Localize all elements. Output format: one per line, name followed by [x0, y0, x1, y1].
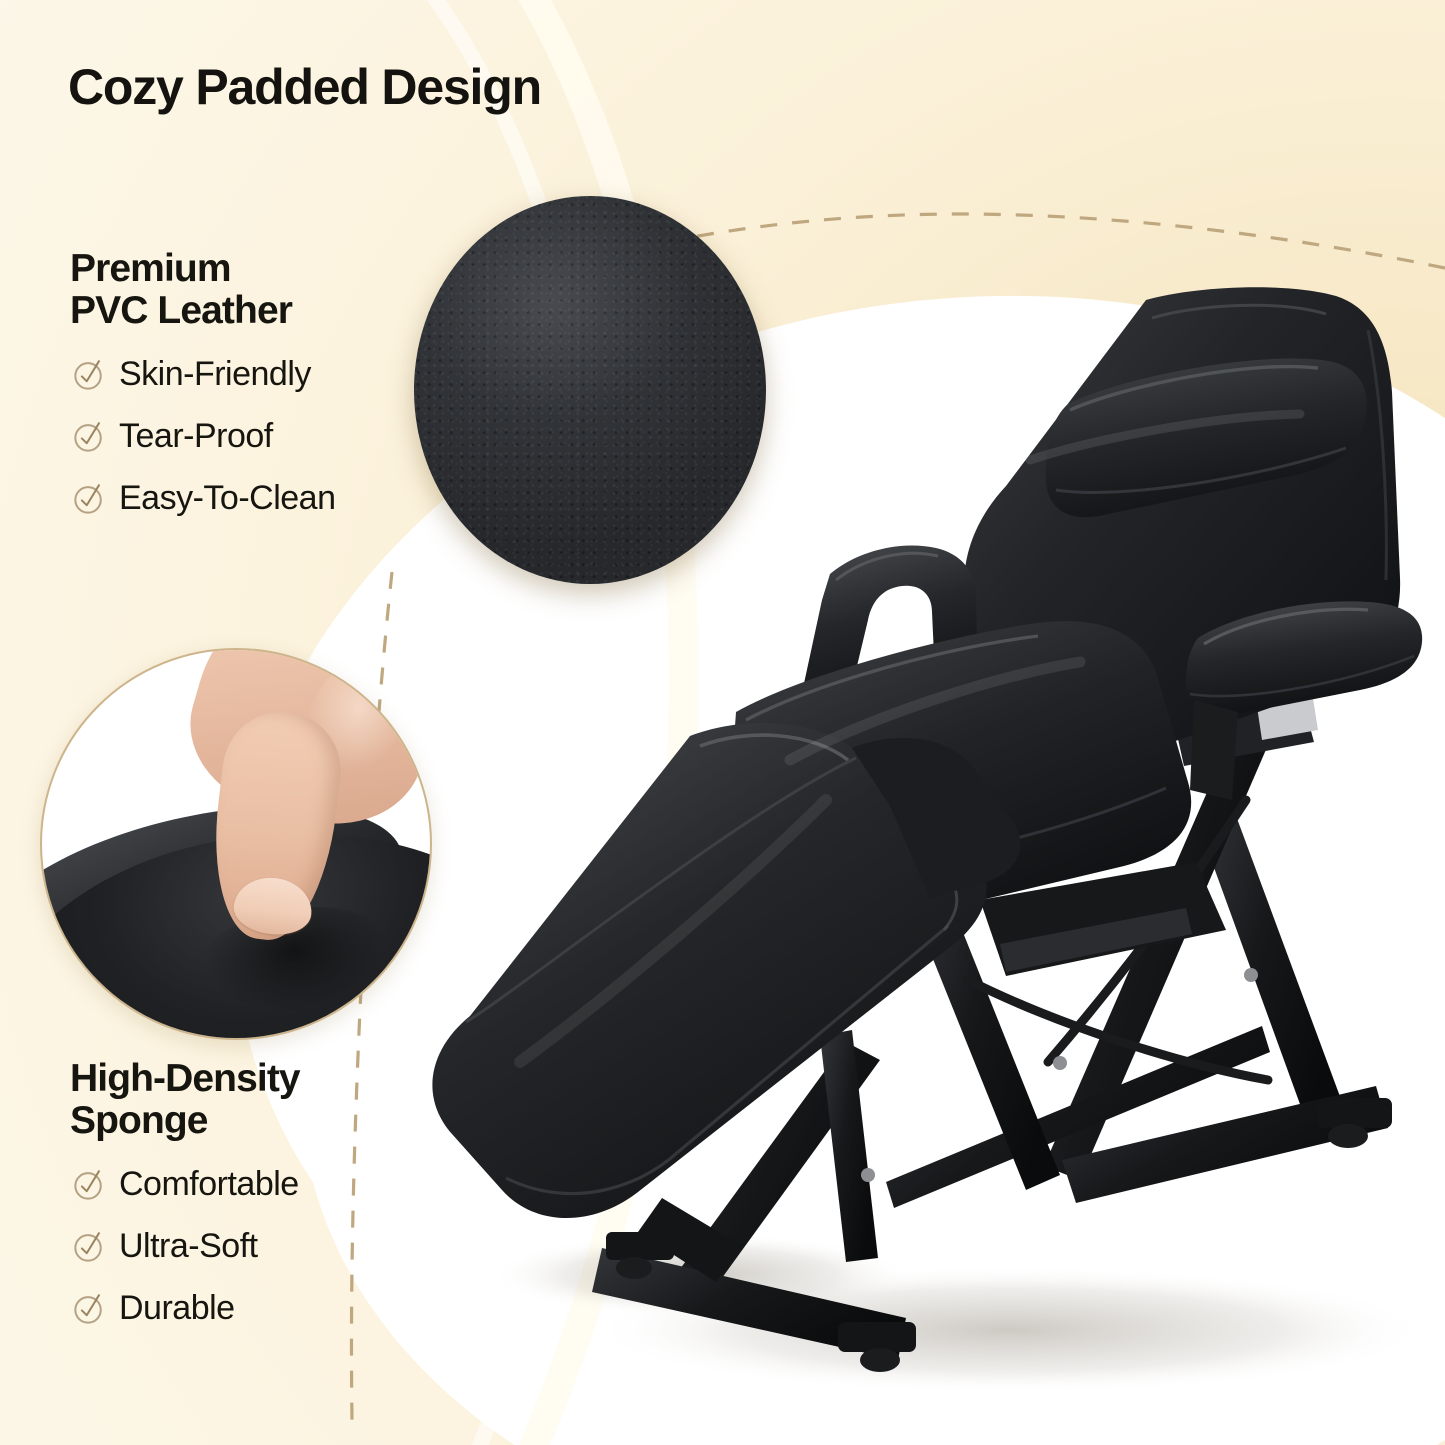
- product-feature-poster: Cozy Padded Design Premium PVC Leather S…: [0, 0, 1445, 1445]
- hand-pressing-sponge-closeup: [40, 648, 432, 1040]
- check-circle-icon: [70, 417, 108, 455]
- feature-title: High-Density Sponge: [70, 1058, 300, 1141]
- leather-sheen: [414, 196, 766, 584]
- feature-label: Comfortable: [119, 1167, 299, 1201]
- check-circle-icon: [70, 1289, 108, 1327]
- feature-label: Skin-Friendly: [119, 357, 311, 391]
- pvc-leather-texture-closeup: [414, 196, 766, 584]
- list-item: Tear-Proof: [70, 416, 335, 456]
- page-title: Cozy Padded Design: [68, 58, 541, 116]
- check-circle-icon: [70, 355, 108, 393]
- feature-label: Ultra-Soft: [119, 1229, 258, 1263]
- feature-list: Comfortable Ultra-Soft Durable: [70, 1164, 300, 1328]
- list-item: Durable: [70, 1288, 300, 1328]
- feature-list: Skin-Friendly Tear-Proof Easy-To-Clean: [70, 354, 335, 518]
- list-item: Comfortable: [70, 1164, 300, 1204]
- check-circle-icon: [70, 479, 108, 517]
- list-item: Easy-To-Clean: [70, 478, 335, 518]
- list-item: Ultra-Soft: [70, 1226, 300, 1266]
- list-item: Skin-Friendly: [70, 354, 335, 394]
- feature-title: Premium PVC Leather: [70, 248, 335, 331]
- check-circle-icon: [70, 1165, 108, 1203]
- feature-block-high-density-sponge: High-Density Sponge Comfortable Ultra-So…: [70, 1058, 300, 1350]
- feature-label: Easy-To-Clean: [119, 481, 335, 515]
- feature-block-premium-pvc-leather: Premium PVC Leather Skin-Friendly Tear-P…: [70, 248, 335, 540]
- feature-label: Tear-Proof: [119, 419, 273, 453]
- feature-label: Durable: [119, 1291, 235, 1325]
- hand: [154, 648, 432, 922]
- check-circle-icon: [70, 1227, 108, 1265]
